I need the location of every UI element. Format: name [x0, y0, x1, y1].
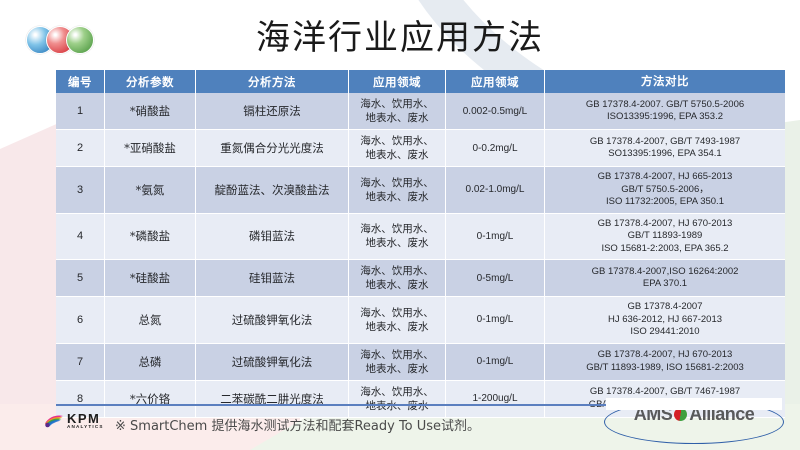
ams-alliance-logo: AMSAlliance [604, 398, 786, 448]
cell-comparison: GB 17378.4-2007, HJ 670-2013GB/T 11893-1… [545, 213, 786, 260]
cell-comparison: GB 17378.4-2007HJ 636-2012, HJ 667-2013I… [545, 297, 786, 344]
table-row: 5*硅酸盐硅钼蓝法海水、饮用水、地表水、废水0-5mg/LGB 17378.4-… [56, 260, 785, 297]
cell-comparison: GB 17378.4-2007, HJ 670-2013GB/T 11893-1… [545, 343, 786, 380]
cell-field: 海水、饮用水、地表水、废水 [349, 93, 446, 130]
cell-field-line: 地表水、废水 [352, 148, 442, 162]
cell-field: 海水、饮用水、地表水、废水 [349, 343, 446, 380]
cell-field-line: 地表水、废水 [352, 111, 442, 125]
table-header-row: 编号 分析参数 分析方法 应用领域 应用领域 方法对比 [56, 70, 785, 93]
cell-field: 海水、饮用水、地表水、废水 [349, 167, 446, 214]
column-header-parameter: 分析参数 [105, 70, 196, 93]
table-row: 6总氮过硫酸钾氧化法海水、饮用水、地表水、废水0-1mg/LGB 17378.4… [56, 297, 785, 344]
cell-comparison-line: GB 17378.4-2007, GB/T 7467-1987 [548, 386, 782, 399]
cell-parameter: *硅酸盐 [105, 260, 196, 297]
table-row: 4*磷酸盐磷钼蓝法海水、饮用水、地表水、废水0-1mg/LGB 17378.4-… [56, 213, 785, 260]
table-row: 3*氨氮靛酚蓝法、次溴酸盐法海水、饮用水、地表水、废水0.02-1.0mg/LG… [56, 167, 785, 214]
cell-no: 6 [56, 297, 105, 344]
cell-comparison-line: GB 17378.4-2007, HJ 670-2013 [548, 218, 782, 231]
footer-note: ※ SmartChem 提供海水测试方法和配套Ready To Use试剂。 [115, 415, 480, 434]
column-header-range: 应用领域 [446, 70, 545, 93]
cell-comparison-line: GB 17378.4-2007, HJ 665-2013 [548, 171, 782, 184]
cell-comparison-line: SO13395:1996, EPA 354.1 [548, 148, 782, 161]
cell-range: 0-1mg/L [446, 297, 545, 344]
cell-field-line: 海水、饮用水、 [352, 222, 442, 236]
cell-method: 镉柱还原法 [196, 93, 349, 130]
cell-no: 5 [56, 260, 105, 297]
ams-logo-top-mask [606, 398, 782, 410]
cell-comparison: GB 17378.4-2007. GB/T 5750.5-2006ISO1339… [545, 93, 786, 130]
cell-parameter: 总磷 [105, 343, 196, 380]
cell-comparison: GB 17378.4-2007, GB/T 7493-1987SO13395:1… [545, 130, 786, 167]
cell-range: 0-1mg/L [446, 343, 545, 380]
cell-field-line: 海水、饮用水、 [352, 264, 442, 278]
cell-field: 海水、饮用水、地表水、废水 [349, 380, 446, 417]
cell-field-line: 海水、饮用水、 [352, 97, 442, 111]
cell-field-line: 海水、饮用水、 [352, 134, 442, 148]
cell-field-line: 地表水、废水 [352, 320, 442, 334]
cell-field-line: 海水、饮用水、 [352, 385, 442, 399]
cell-method: 过硫酸钾氧化法 [196, 297, 349, 344]
cell-comparison-line: GB 17378.4-2007. GB/T 5750.5-2006 [548, 99, 782, 112]
cell-comparison-line: ISO 15681-2:2003, EPA 365.2 [548, 243, 782, 256]
cell-field-line: 地表水、废水 [352, 278, 442, 292]
cell-field: 海水、饮用水、地表水、废水 [349, 130, 446, 167]
cell-parameter: 总氮 [105, 297, 196, 344]
cell-field-line: 地表水、废水 [352, 362, 442, 376]
kpm-tagline: ANALYTICS [67, 425, 104, 430]
cell-method: 磷钼蓝法 [196, 213, 349, 260]
cell-parameter: *六价铬 [105, 380, 196, 417]
cell-field-line: 地表水、废水 [352, 399, 442, 413]
cell-no: 1 [56, 93, 105, 130]
brand-logo-trio [26, 26, 86, 54]
cell-parameter: *亚硝酸盐 [105, 130, 196, 167]
methods-table: 编号 分析参数 分析方法 应用领域 应用领域 方法对比 1*硝酸盐镉柱还原法海水… [56, 70, 785, 418]
cell-comparison-line: GB 17378.4-2007 [548, 301, 782, 314]
cell-parameter: *氨氮 [105, 167, 196, 214]
cell-field: 海水、饮用水、地表水、废水 [349, 213, 446, 260]
cell-no: 4 [56, 213, 105, 260]
cell-method: 硅钼蓝法 [196, 260, 349, 297]
cell-field: 海水、饮用水、地表水、废水 [349, 260, 446, 297]
kpm-wordmark: KPM ANALYTICS [67, 412, 104, 430]
cell-parameter: *磷酸盐 [105, 213, 196, 260]
cell-no: 2 [56, 130, 105, 167]
cell-field-line: 海水、饮用水、 [352, 348, 442, 362]
column-header-comparison: 方法对比 [545, 70, 786, 93]
cell-method: 过硫酸钾氧化法 [196, 343, 349, 380]
cell-method: 靛酚蓝法、次溴酸盐法 [196, 167, 349, 214]
cell-comparison-line: GB/T 11893-1989 [548, 230, 782, 243]
cell-range: 1-200ug/L [446, 380, 545, 417]
cell-range: 0.02-1.0mg/L [446, 167, 545, 214]
table-body: 1*硝酸盐镉柱还原法海水、饮用水、地表水、废水0.002-0.5mg/LGB 1… [56, 93, 785, 417]
column-header-method: 分析方法 [196, 70, 349, 93]
page-title: 海洋行业应用方法 [0, 16, 800, 60]
table-row: 2*亚硝酸盐重氮偶合分光光度法海水、饮用水、地表水、废水0-0.2mg/LGB … [56, 130, 785, 167]
slide-canvas: 海洋行业应用方法 编号 分析参数 分析方法 应用领域 应用领域 方法对比 1*硝… [0, 0, 800, 450]
cell-range: 0-0.2mg/L [446, 130, 545, 167]
cell-range: 0-5mg/L [446, 260, 545, 297]
green-circle-logo-icon [66, 26, 94, 54]
cell-comparison-line: GB/T 11893-1989, ISO 15681-2:2003 [548, 362, 782, 375]
cell-comparison-line: GB 17378.4-2007, GB/T 7493-1987 [548, 136, 782, 149]
cell-range: 0.002-0.5mg/L [446, 93, 545, 130]
cell-field-line: 地表水、废水 [352, 190, 442, 204]
cell-field: 海水、饮用水、地表水、废水 [349, 297, 446, 344]
cell-range: 0-1mg/L [446, 213, 545, 260]
cell-comparison-line: ISO 11732:2005, EPA 350.1 [548, 196, 782, 209]
cell-comparison-line: EPA 370.1 [548, 278, 782, 291]
cell-comparison-line: HJ 636-2012, HJ 667-2013 [548, 314, 782, 327]
cell-field-line: 地表水、废水 [352, 236, 442, 250]
cell-field-line: 海水、饮用水、 [352, 306, 442, 320]
column-header-no: 编号 [56, 70, 105, 93]
cell-comparison: GB 17378.4-2007, HJ 665-2013GB/T 5750.5-… [545, 167, 786, 214]
table-row: 7总磷过硫酸钾氧化法海水、饮用水、地表水、废水0-1mg/LGB 17378.4… [56, 343, 785, 380]
kpm-analytics-logo: KPM ANALYTICS [44, 412, 104, 430]
cell-comparison: GB 17378.4-2007,ISO 16264:2002EPA 370.1 [545, 260, 786, 297]
cell-no: 3 [56, 167, 105, 214]
table-row: 1*硝酸盐镉柱还原法海水、饮用水、地表水、废水0.002-0.5mg/LGB 1… [56, 93, 785, 130]
cell-comparison-line: ISO13395:1996, EPA 353.2 [548, 111, 782, 124]
cell-method: 二苯碳酰二肼光度法 [196, 380, 349, 417]
cell-no: 7 [56, 343, 105, 380]
kpm-swirl-icon [44, 413, 64, 428]
cell-field-line: 海水、饮用水、 [352, 176, 442, 190]
cell-parameter: *硝酸盐 [105, 93, 196, 130]
cell-comparison-line: GB 17378.4-2007, HJ 670-2013 [548, 349, 782, 362]
methods-table-wrapper: 编号 分析参数 分析方法 应用领域 应用领域 方法对比 1*硝酸盐镉柱还原法海水… [56, 70, 756, 418]
cell-comparison-line: GB/T 5750.5-2006， [548, 184, 782, 197]
cell-comparison-line: GB 17378.4-2007,ISO 16264:2002 [548, 266, 782, 279]
cell-comparison-line: ISO 29441:2010 [548, 326, 782, 339]
cell-method: 重氮偶合分光光度法 [196, 130, 349, 167]
column-header-field: 应用领域 [349, 70, 446, 93]
